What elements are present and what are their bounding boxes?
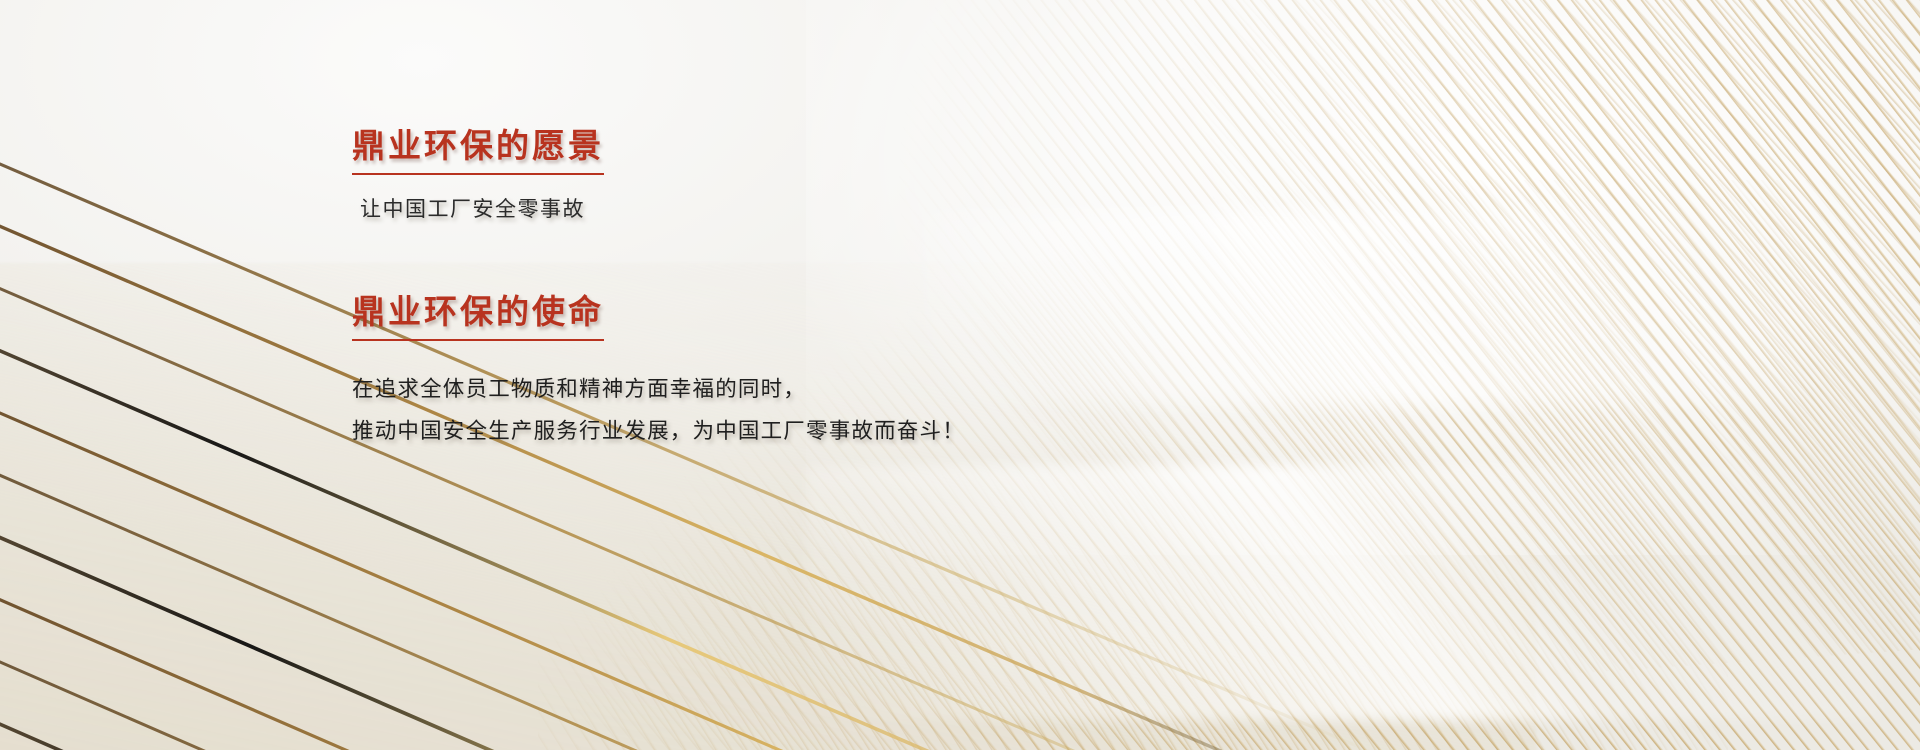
mission-heading: 鼎业环保的使命 bbox=[352, 292, 604, 341]
vision-block: 鼎业环保的愿景 让中国工厂安全零事故 bbox=[352, 126, 1112, 224]
vision-mission-banner: 鼎业环保的愿景 让中国工厂安全零事故 鼎业环保的使命 在追求全体员工物质和精神方… bbox=[0, 0, 1920, 750]
mission-body: 在追求全体员工物质和精神方面幸福的同时， 推动中国安全生产服务行业发展，为中国工… bbox=[352, 369, 1112, 453]
vision-subtitle: 让中国工厂安全零事故 bbox=[360, 195, 1112, 224]
mission-line-2: 推动中国安全生产服务行业发展，为中国工厂零事故而奋斗！ bbox=[352, 411, 1112, 453]
mission-line-1: 在追求全体员工物质和精神方面幸福的同时， bbox=[352, 369, 1112, 411]
content-block: 鼎业环保的愿景 让中国工厂安全零事故 鼎业环保的使命 在追求全体员工物质和精神方… bbox=[352, 126, 1112, 452]
mission-block: 鼎业环保的使命 在追求全体员工物质和精神方面幸福的同时， 推动中国安全生产服务行… bbox=[352, 292, 1112, 452]
vision-heading: 鼎业环保的愿景 bbox=[352, 126, 604, 175]
